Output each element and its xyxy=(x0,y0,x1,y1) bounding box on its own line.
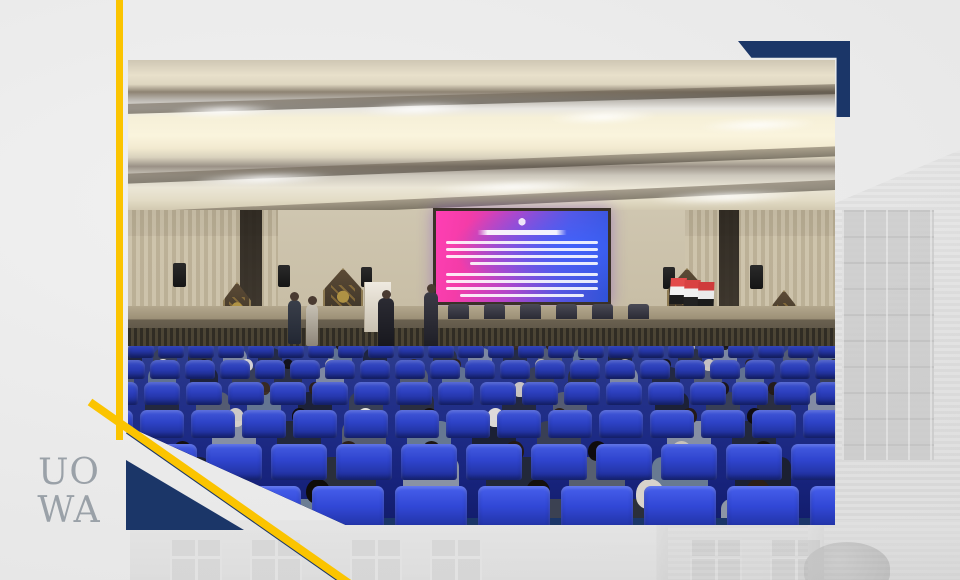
uowa-logo-line2: WA xyxy=(28,493,110,529)
auditorium-seat xyxy=(354,382,390,405)
auditorium-seat xyxy=(430,360,460,379)
auditorium-seat xyxy=(531,444,587,480)
auditorium-seat xyxy=(732,382,768,405)
auditorium-seat xyxy=(810,486,835,525)
auditorium-seat xyxy=(325,360,355,379)
auditorium-seat xyxy=(710,360,740,379)
auditorium-seat xyxy=(466,444,522,480)
auditorium-seat xyxy=(480,382,516,405)
auditorium-seat xyxy=(675,360,705,379)
auditorium-seat xyxy=(752,410,796,438)
auditorium-seat xyxy=(144,382,180,405)
auditorium-seat xyxy=(308,346,334,358)
auditorium-seat xyxy=(395,486,467,525)
standing-person xyxy=(288,300,301,344)
speaker-icon xyxy=(278,265,290,287)
led-screen-text-line xyxy=(470,262,598,265)
auditorium-seat xyxy=(596,444,652,480)
stage-chair xyxy=(448,304,469,319)
auditorium-seat xyxy=(290,360,320,379)
auditorium-seat xyxy=(605,360,635,379)
auditorium-seat xyxy=(661,444,717,480)
banner-canvas: جمهورية العراق والشؤون العلمية xyxy=(0,0,960,580)
campus-facade-watermark xyxy=(130,520,960,580)
auditorium-seat xyxy=(500,360,530,379)
auditorium-seat xyxy=(535,360,565,379)
flag-icon xyxy=(698,282,715,308)
stage-chair xyxy=(556,304,577,319)
facade-window xyxy=(690,538,742,580)
auditorium-seat xyxy=(428,346,454,358)
auditorium-seat xyxy=(698,346,724,358)
auditorium-seat xyxy=(271,444,327,480)
auditorium-seat xyxy=(640,360,670,379)
auditorium-seat xyxy=(570,360,600,379)
auditorium-seat xyxy=(140,410,184,438)
auditorium-seat xyxy=(218,346,244,358)
gold-vertical-accent xyxy=(116,0,123,440)
auditorium-ceiling xyxy=(128,60,835,212)
auditorium-seat xyxy=(158,346,184,358)
auditorium-seat xyxy=(815,360,835,379)
auditorium-seat xyxy=(608,346,634,358)
led-screen-text-line xyxy=(446,248,598,251)
auditorium-seat xyxy=(242,410,286,438)
auditorium-seat xyxy=(401,444,457,480)
speaker-icon xyxy=(173,263,186,287)
auditorium-seat xyxy=(312,382,348,405)
led-screen-text-line xyxy=(446,273,598,276)
auditorium-seat xyxy=(395,410,439,438)
led-screen-text-line xyxy=(460,294,584,297)
auditorium-seat xyxy=(128,360,145,379)
auditorium-seat xyxy=(128,346,154,358)
auditorium-seat xyxy=(816,382,835,405)
auditorium-seat xyxy=(701,410,745,438)
led-screen-text-line xyxy=(446,255,598,258)
auditorium-seat xyxy=(668,346,694,358)
arch-glass-bay xyxy=(842,210,934,460)
auditorium-seat xyxy=(648,382,684,405)
auditorium-seat xyxy=(186,382,222,405)
auditorium-seat xyxy=(150,360,180,379)
facade-window xyxy=(170,538,222,580)
auditorium-seat xyxy=(396,382,432,405)
auditorium-seat xyxy=(818,346,835,358)
auditorium-seat xyxy=(185,360,215,379)
auditorium-seat xyxy=(745,360,775,379)
standing-person xyxy=(306,304,318,346)
stage-chair xyxy=(484,304,505,319)
auditorium-photo-inner: جمهورية العراق والشؤون العلمية xyxy=(128,60,835,525)
auditorium-seat xyxy=(488,346,514,358)
auditorium-seat xyxy=(255,360,285,379)
auditorium-seat xyxy=(128,382,138,405)
auditorium-seat xyxy=(465,360,495,379)
auditorium-seat xyxy=(774,382,810,405)
auditorium-seat xyxy=(788,346,814,358)
auditorium-seat xyxy=(561,486,633,525)
standing-person xyxy=(424,292,438,354)
auditorium-seat xyxy=(336,444,392,480)
auditorium-seat xyxy=(344,410,388,438)
auditorium-seat xyxy=(438,382,474,405)
auditorium-seat xyxy=(188,346,214,358)
auditorium-seat xyxy=(644,486,716,525)
auditorium-seat xyxy=(293,410,337,438)
auditorium-seat xyxy=(191,410,235,438)
auditorium-seat xyxy=(758,346,784,358)
auditorium-seat xyxy=(395,360,425,379)
facade-window xyxy=(430,538,482,580)
auditorium-seat xyxy=(368,346,394,358)
auditorium-seat xyxy=(446,410,490,438)
auditorium-seat xyxy=(522,382,558,405)
led-screen-text-line xyxy=(446,280,598,283)
auditorium-seat xyxy=(578,346,604,358)
auditorium-seat xyxy=(398,346,424,358)
auditorium-photo: جمهورية العراق والشؤون العلمية xyxy=(128,60,835,525)
auditorium-seat xyxy=(728,346,754,358)
auditorium-seat xyxy=(548,410,592,438)
auditorium-seat xyxy=(458,346,484,358)
auditorium-seat xyxy=(791,444,835,480)
ceiling-light xyxy=(698,116,818,134)
auditorium-seat xyxy=(606,382,642,405)
ceiling-light xyxy=(548,108,658,126)
auditorium-seat xyxy=(650,410,694,438)
uowa-logo: UO WA xyxy=(28,455,110,533)
led-screen: جمهورية العراق والشؤون العلمية xyxy=(433,208,611,305)
auditorium-seat xyxy=(220,360,250,379)
facade-window xyxy=(350,538,402,580)
auditorium-seat xyxy=(726,444,782,480)
auditorium-seat xyxy=(270,382,306,405)
auditorium-seat xyxy=(278,346,304,358)
auditorium-seat xyxy=(338,346,364,358)
auditorium-seat xyxy=(228,382,264,405)
auditorium-seat xyxy=(803,410,835,438)
auditorium-seat xyxy=(248,346,274,358)
auditorium-seat xyxy=(548,346,574,358)
auditorium-seat xyxy=(690,382,726,405)
led-screen-text-line xyxy=(446,287,598,290)
stage-chair xyxy=(628,304,649,319)
speaker-icon xyxy=(750,265,763,289)
auditorium-seat xyxy=(727,486,799,525)
auditorium-seat xyxy=(599,410,643,438)
auditorium-seat xyxy=(564,382,600,405)
auditorium-seat xyxy=(478,486,550,525)
auditorium-seat xyxy=(360,360,390,379)
stage-chair xyxy=(592,304,613,319)
stage-chair xyxy=(520,304,541,319)
led-screen-text-line xyxy=(446,241,598,244)
auditorium-seat xyxy=(638,346,664,358)
auditorium-seat xyxy=(780,360,810,379)
auditorium-seat xyxy=(518,346,544,358)
photo-alt-text: Wide view of a packed university auditor… xyxy=(0,0,1,1)
uowa-logo-line1: UO xyxy=(28,455,110,491)
auditorium-seat xyxy=(206,444,262,480)
auditorium-seat xyxy=(497,410,541,438)
